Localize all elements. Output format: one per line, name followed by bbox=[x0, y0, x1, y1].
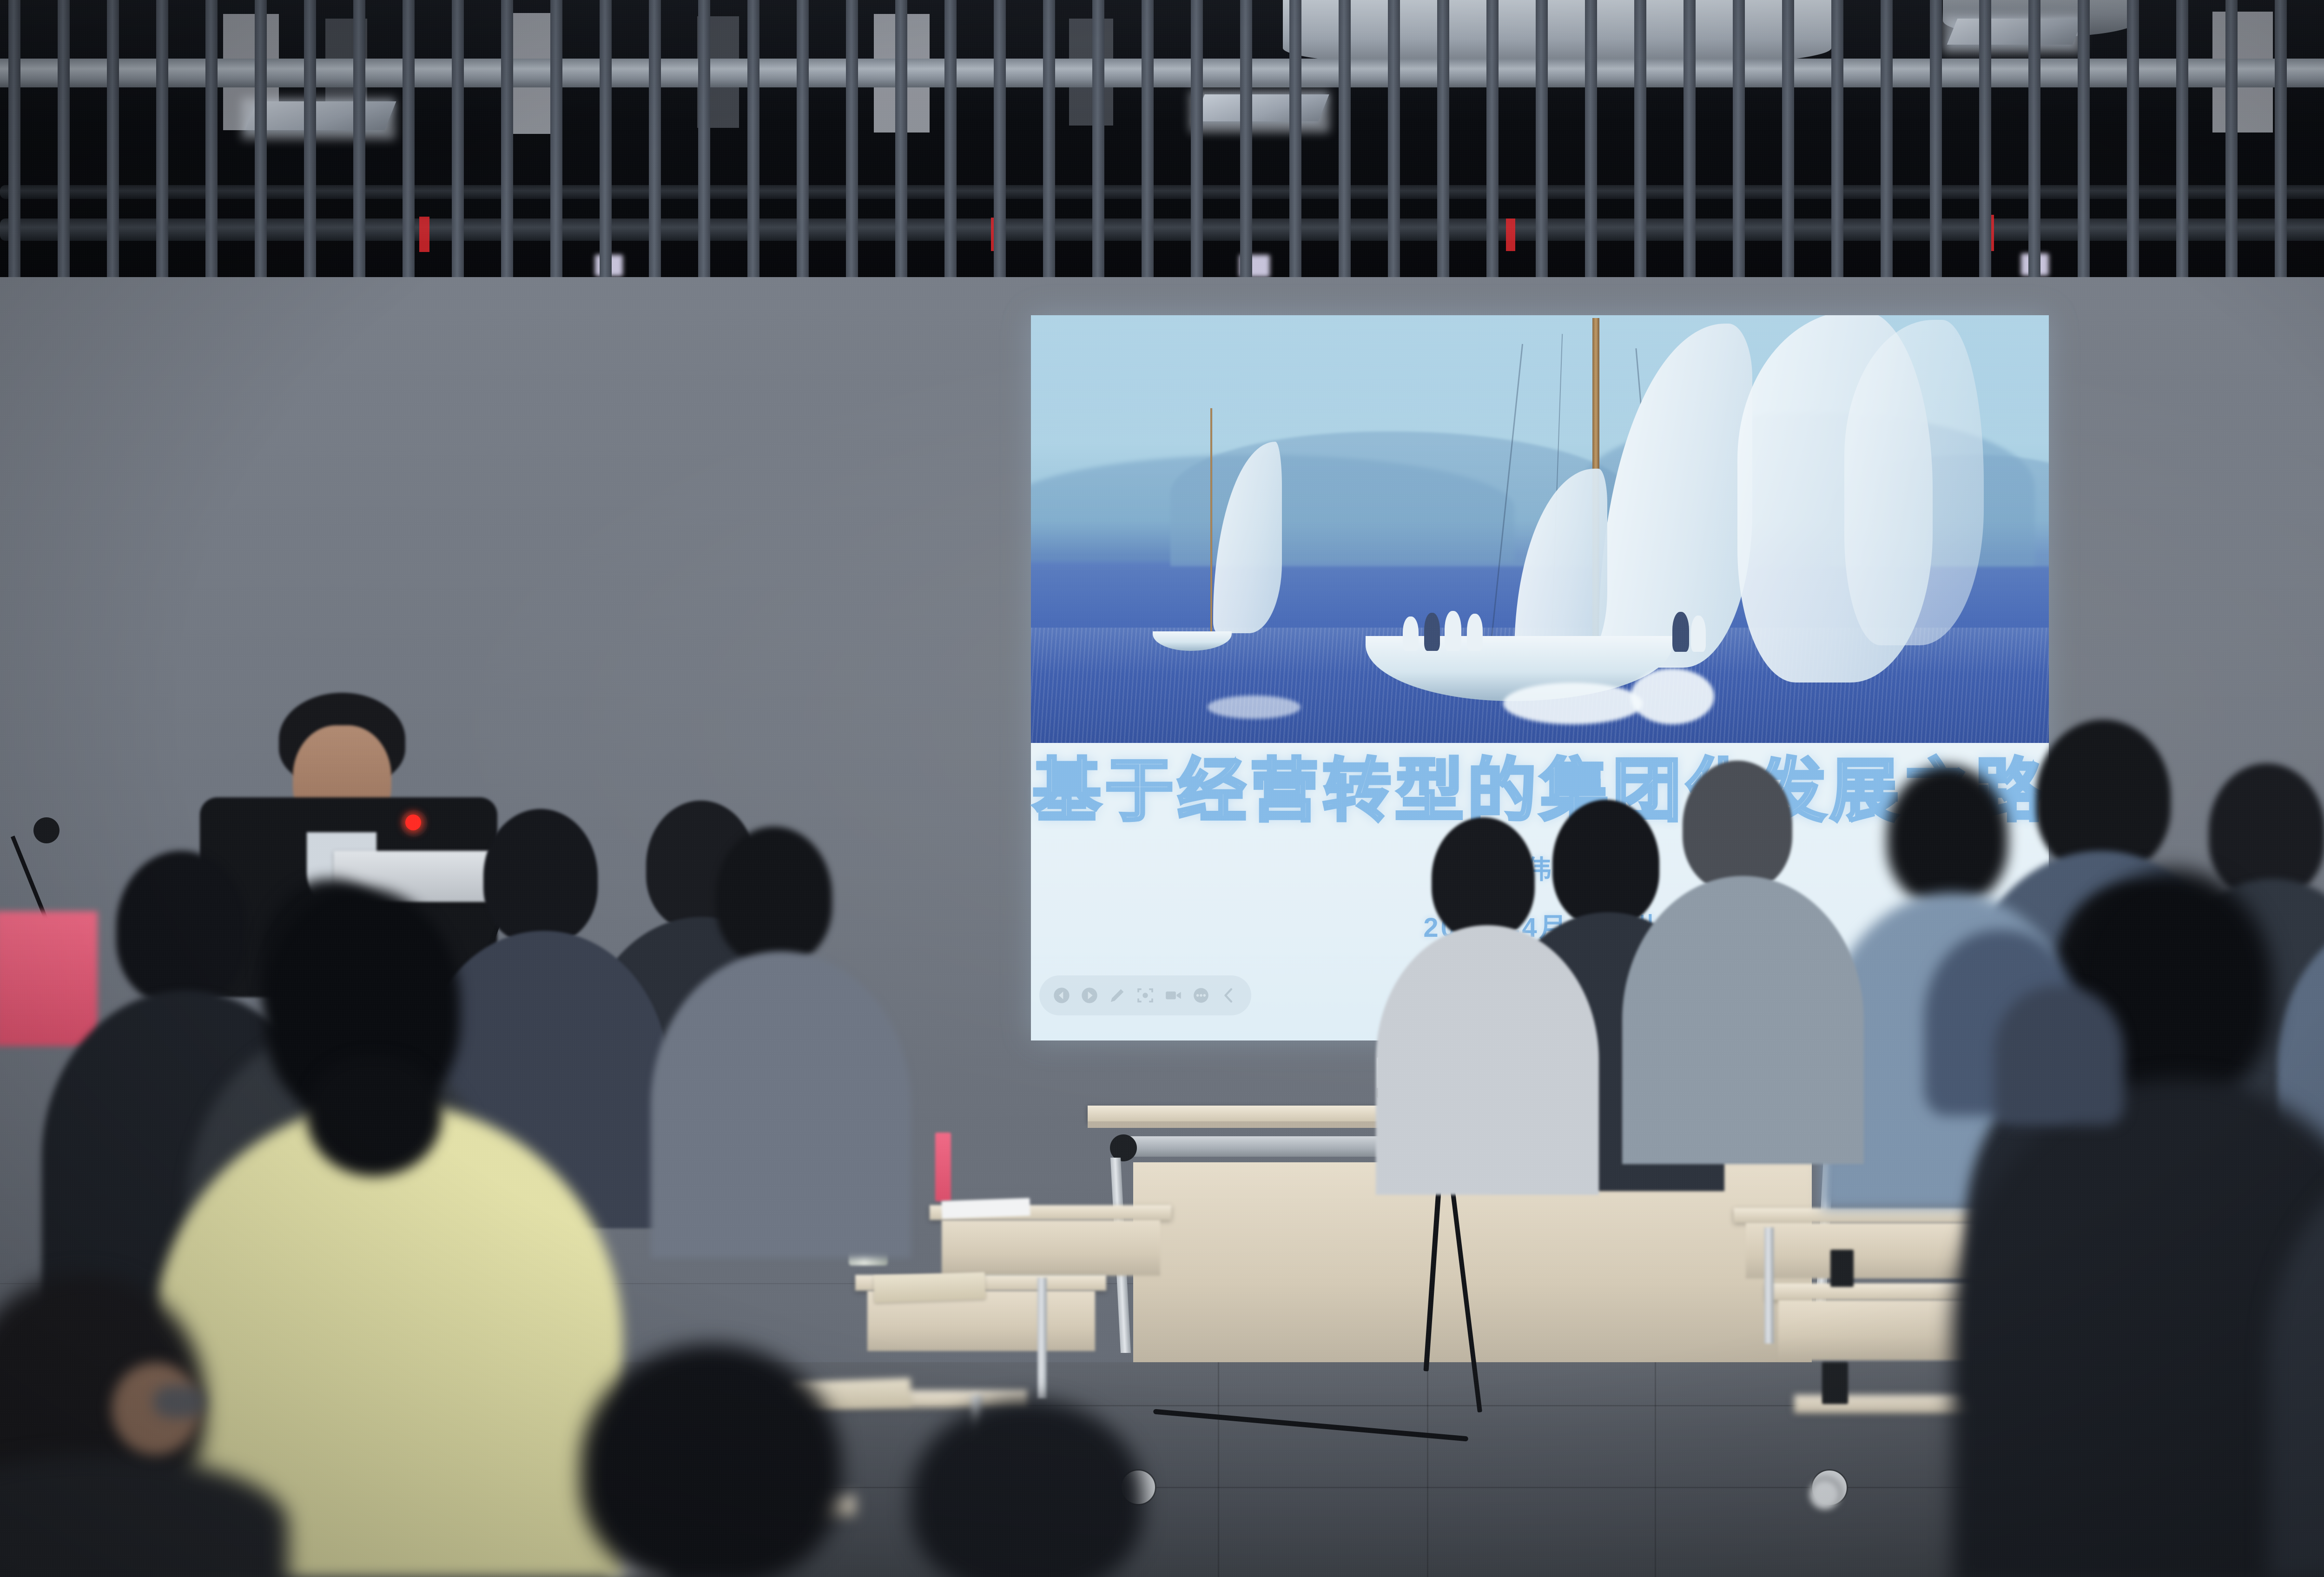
table-joint bbox=[1830, 1250, 1854, 1287]
audience-body bbox=[1622, 876, 1864, 1164]
desk-notebook bbox=[873, 1272, 986, 1303]
slide-photo-sailing-yachts bbox=[1031, 315, 2049, 743]
ceiling-slat-array bbox=[0, 0, 2324, 279]
pen-annotate-icon[interactable] bbox=[1108, 986, 1127, 1005]
eyeglasses bbox=[153, 1385, 205, 1418]
audience-body-white-polo bbox=[1376, 925, 1599, 1195]
desk-papers bbox=[941, 1198, 1030, 1219]
collapse-toolbar-icon[interactable] bbox=[1220, 986, 1238, 1005]
audience-head-grey-hair bbox=[1683, 761, 1792, 891]
audience-head bbox=[2209, 763, 2324, 898]
audience-head-foreground bbox=[581, 1344, 841, 1577]
audience-head bbox=[716, 827, 832, 964]
more-options-icon[interactable] bbox=[1192, 986, 1210, 1005]
conference-room-photo: 基于经营转型的集团化发展之路 陆伟民 2025年4月—滨州 bbox=[0, 0, 2324, 1577]
pink-desk-object bbox=[935, 1133, 951, 1201]
audience-head bbox=[1552, 800, 1659, 926]
screenshot-icon[interactable] bbox=[1136, 986, 1155, 1005]
audience-head bbox=[1432, 817, 1535, 939]
pink-banner bbox=[0, 911, 98, 1046]
slide-toolbar[interactable] bbox=[1039, 975, 1251, 1015]
table-top bbox=[1734, 1208, 1989, 1223]
audience-head bbox=[116, 851, 246, 1004]
audience-body bbox=[651, 951, 911, 1258]
table-leg bbox=[1764, 1227, 1774, 1344]
ceiling-structure bbox=[0, 0, 2324, 279]
audience-head bbox=[483, 809, 598, 944]
play-slide-icon[interactable] bbox=[1080, 986, 1099, 1005]
record-video-icon[interactable] bbox=[1164, 986, 1182, 1005]
table-joint bbox=[1822, 1362, 1848, 1404]
audience-occluding-screen bbox=[1994, 986, 2124, 1125]
table-front-panel bbox=[1746, 1223, 1978, 1279]
table-front-panel bbox=[942, 1220, 1160, 1276]
previous-slide-icon[interactable] bbox=[1052, 986, 1071, 1005]
audience-hair-bun bbox=[307, 1055, 442, 1176]
microphone-head bbox=[33, 817, 59, 843]
audience-head bbox=[2036, 720, 2171, 873]
audience-head bbox=[1887, 765, 2008, 905]
microphone-indicator-light bbox=[405, 815, 421, 830]
table-caster bbox=[1808, 1478, 1842, 1511]
table-leg bbox=[1037, 1278, 1047, 1398]
